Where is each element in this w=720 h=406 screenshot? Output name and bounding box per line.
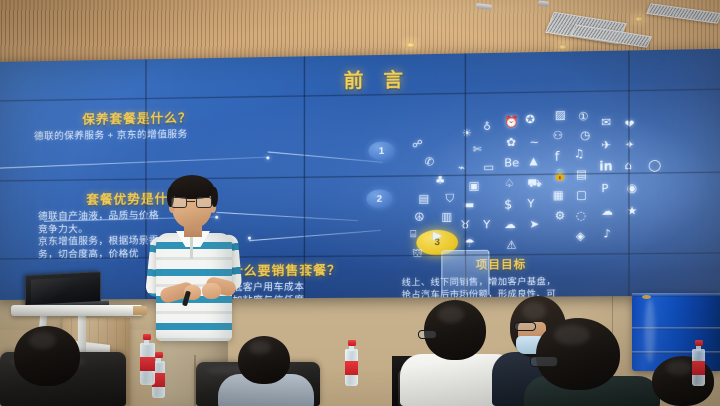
cloud-upload-icon: ☁ [504,219,516,230]
bottle-label [140,357,155,371]
alarm-clock-icon: ⏰ [504,116,518,127]
camera-icon: ▨ [555,109,566,120]
location-pin-icon: ☍ [412,140,423,150]
group-icon: ⚇ [553,130,563,141]
facebook-icon: f [555,150,559,162]
bell-icon: ♤ [504,178,514,189]
bottle-cap [155,352,163,358]
recessed-downlight [633,16,644,22]
head-highlight [666,361,692,375]
slide-block-1-body: 德联的保养服务 + 京东的增值服务 [34,129,192,144]
peace-icon: ☮ [414,212,424,223]
audience-head [14,326,80,386]
bottle-label [692,361,705,375]
speech-bubble-icon: ◌ [576,210,586,221]
audience-member-front-left [8,326,86,406]
chat-icon: ▭ [483,162,494,173]
monitor-icon: ▢ [576,189,587,200]
recessed-downlight [557,44,568,50]
clock2-icon: ◷ [580,129,590,140]
bottle-cap [348,340,356,346]
play-icon: ▶ [433,230,442,241]
cart-icon: ⛉ [446,193,455,204]
connector-line [249,230,381,241]
audience-head [536,318,620,390]
dollar-icon: $ [504,198,512,210]
parking-icon: P [601,183,608,194]
lightbulb-icon: ◯ [648,159,661,171]
music-note-icon: ♫ [574,148,584,159]
bottle-label [345,361,358,375]
airplane-icon: ✈ [601,139,611,150]
head-highlight [438,306,464,323]
audience-member-far-right [652,356,720,406]
water-bottle[interactable] [692,340,705,386]
wine-glass-icon: Y [483,219,490,230]
head-highlight [29,332,57,349]
slide-block-1: 保养套餐是什么？ 德联的保养服务 + 京东的增值服务 [82,107,191,144]
connector-dot [266,156,269,159]
youtube-icon: ▣ [469,180,480,191]
podium-worktop [11,305,143,316]
gear-icon: ⚙ [555,210,565,221]
water-bottle[interactable] [140,334,155,386]
linkedin-icon: in [599,160,612,173]
drum-bung-cap [642,295,651,299]
slide-step-marker-2[interactable]: 2 [366,189,392,208]
presenter-hair [169,175,215,199]
gift-icon: ⛫ [412,247,423,258]
clock-icon: ① [578,111,588,122]
bed-icon: ⌸ [410,230,416,240]
audience-head [238,336,290,384]
ceiling-sprinkler [538,0,549,6]
tag-icon: ◈ [576,230,585,241]
bus-icon: ▤ [418,193,429,204]
audience-member-left-mask-hair [218,336,314,406]
bottle-cap [695,340,703,346]
conference-room-photo: 前 言 1 2 3 保养套餐是什么？ 德联的保养服务 + 京东的增值服务 套餐优… [0,0,720,406]
glasses-lens [171,197,187,208]
envelope-icon: ✉ [601,117,611,128]
balloon-icon: ♁ [483,123,491,133]
icon-cloud-glow [404,101,710,269]
presenter-glasses [171,197,213,208]
phone-icon: ✆ [425,156,435,167]
led-video-wall[interactable]: 前 言 1 2 3 保养套餐是什么？ 德联的保养服务 + 京东的增值服务 套餐优… [0,49,720,300]
connector-line [0,157,267,169]
head-highlight [554,325,589,345]
bottle-cap [143,334,151,340]
warning-icon: ⚠ [506,239,516,250]
car-icon: ⛟ [527,177,542,188]
send-icon: ➤ [529,219,539,230]
audience-glasses [530,356,558,367]
apple-icon: ✿ [506,137,516,148]
bone-icon: ~ [529,136,539,147]
slide-block-1-heading: 保养套餐是什么？ [82,107,191,128]
weather-icon: ☁ [601,205,613,216]
briefcase-icon: ▦ [553,189,564,200]
water-bottle[interactable] [345,340,358,386]
glasses-bridge [187,201,195,202]
headphones-icon: ♪ [603,228,610,239]
social-app-icon-cloud: ✆ ☍ ♣ ▤ ⛉ ☮ ▥ ⌸ ▶ ⛫ ☀ ♁ ✄ ⌁ ▭ ▣ ▬ ♉ Y ☂ … [395,95,712,294]
behance-icon: Be [504,157,519,168]
paperclip-icon: ✄ [473,145,482,155]
audience-glasses [418,330,437,339]
compass-icon: ✪ [525,114,535,125]
head-highlight [249,341,271,354]
cone-icon: ▲ [529,157,537,167]
head-highlight [522,302,546,319]
recessed-downlight [405,42,416,48]
slide-step-marker-1[interactable]: 1 [368,141,394,160]
presenter-shirt-placket [190,235,193,259]
connector-line [268,151,383,162]
audience-member-front-right-glasses [524,318,662,406]
slide-title: 前 言 [344,65,411,94]
presenter-right-hand [202,283,221,299]
glasses-lens [196,197,212,208]
cocktail-icon: Y [527,198,534,209]
bank-icon: ▥ [441,211,452,222]
